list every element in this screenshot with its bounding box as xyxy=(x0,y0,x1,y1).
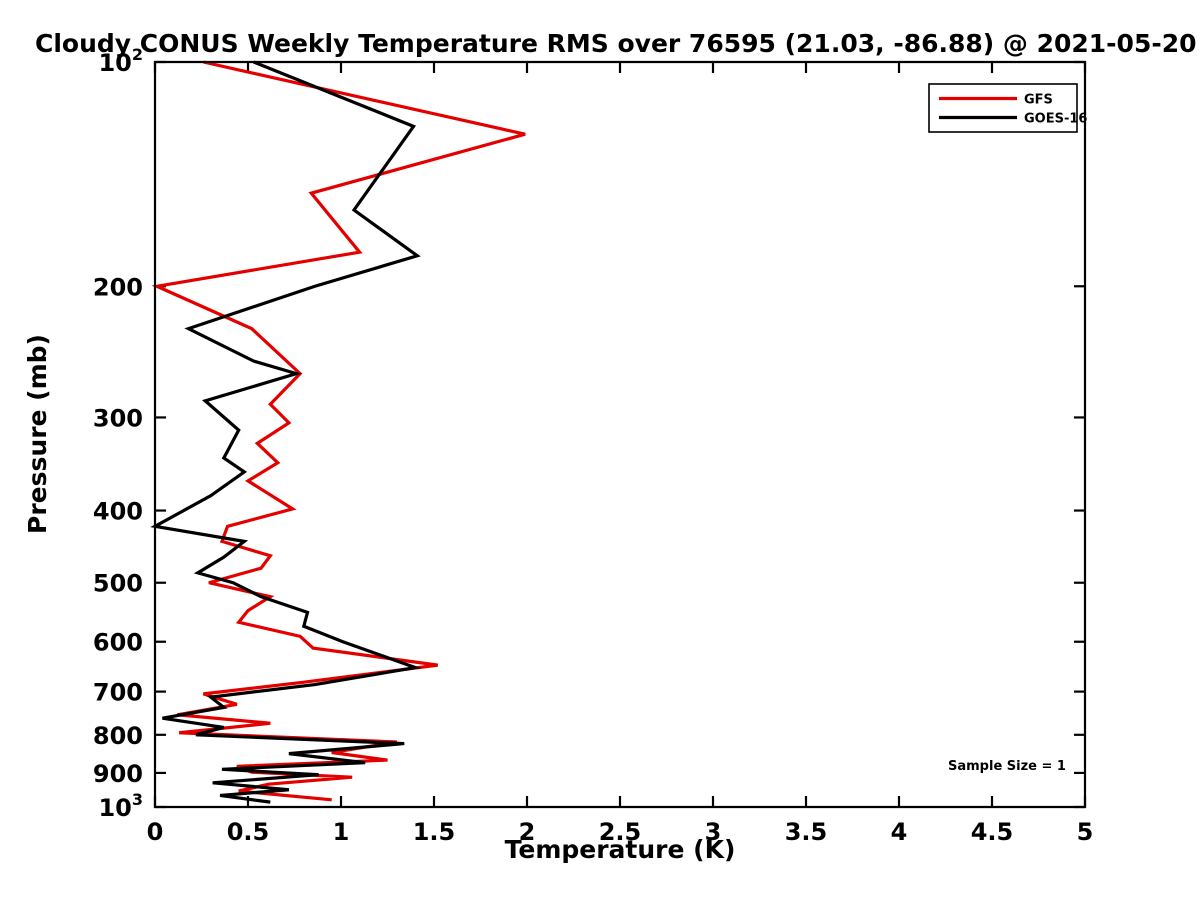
y-tick-label: 500 xyxy=(93,570,143,598)
x-tick-label: 4.5 xyxy=(971,818,1014,846)
x-tick-label: 1 xyxy=(333,818,350,846)
chart-figure: Cloudy CONUS Weekly Temperature RMS over… xyxy=(0,0,1200,900)
y-tick-label: 400 xyxy=(93,498,143,526)
chart-title: Cloudy CONUS Weekly Temperature RMS over… xyxy=(35,29,1197,58)
legend-label-gfs[interactable]: GFS xyxy=(1024,93,1053,108)
x-tick-label: 4 xyxy=(891,818,908,846)
chart-legend[interactable]: GFSGOES-16 xyxy=(929,84,1087,132)
sample-size-annotation: Sample Size = 1 xyxy=(948,759,1066,774)
x-tick-label: 0.5 xyxy=(227,818,270,846)
y-tick-label: 700 xyxy=(93,679,143,707)
x-axis-label: Temperature (K) xyxy=(505,835,736,864)
y-tick-label: 800 xyxy=(93,722,143,750)
x-tick-label: 1.5 xyxy=(413,818,456,846)
y-tick-label: 600 xyxy=(93,629,143,657)
y-tick-label: 300 xyxy=(93,404,143,432)
x-tick-label: 0 xyxy=(147,818,164,846)
legend-label-goes-16[interactable]: GOES-16 xyxy=(1024,112,1087,127)
x-tick-label: 3.5 xyxy=(785,818,828,846)
x-tick-label: 5 xyxy=(1077,818,1094,846)
y-axis-label: Pressure (mb) xyxy=(23,334,52,534)
y-tick-label: 200 xyxy=(93,273,143,301)
y-tick-label: 900 xyxy=(93,760,143,788)
